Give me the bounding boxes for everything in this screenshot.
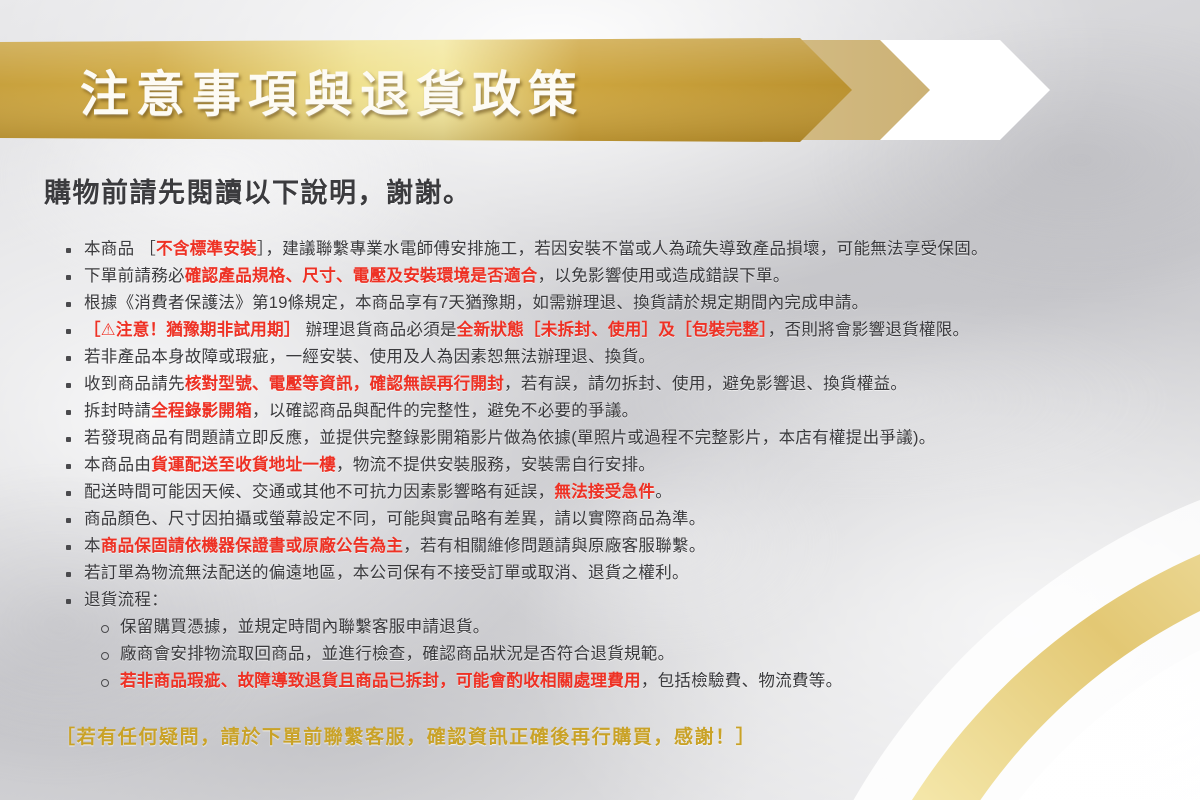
emphasis-text: ［⚠注意！猶豫期非試用期］ <box>84 321 301 339</box>
body-text: ，若有相關維修問題請與原廠客服聯繫。 <box>403 537 705 555</box>
list-item: 本商品保固請依機器保證書或原廠公告為主，若有相關維修問題請與原廠客服聯繫。 <box>60 533 1180 560</box>
list-item: 本商品 ［不含標準安裝］，建議聯繫專業水電師傅安排施工，若因安裝不當或人為疏失導… <box>60 236 1180 263</box>
body-text: 配送時間可能因天候、交通或其他不可抗力因素影響略有延誤， <box>84 483 554 501</box>
body-text: 根據《消費者保護法》第19條規定，本商品享有7天猶豫期，如需辦理退、換貨請於規定… <box>84 294 868 312</box>
list-item: 配送時間可能因天候、交通或其他不可抗力因素影響略有延誤，無法接受急件。 <box>60 479 1180 506</box>
list-item-sub: 保留購買憑據，並規定時間內聯繫客服申請退貨。 <box>96 614 1180 641</box>
list-item: ［⚠注意！猶豫期非試用期］ 辦理退貨商品必須是全新狀態［未拆封、使用］及［包裝完… <box>60 317 1180 344</box>
emphasis-text: 商品保固請依機器保證書或原廠公告為主 <box>101 537 403 555</box>
header-banner: 注意事項與退貨政策 <box>0 38 1060 142</box>
emphasis-text: 貨運配送至收貨地址一樓 <box>151 456 336 474</box>
list-item: 本商品由貨運配送至收貨地址一樓，物流不提供安裝服務，安裝需自行安排。 <box>60 452 1180 479</box>
subtitle: 購物前請先閱讀以下說明，謝謝。 <box>44 171 472 210</box>
list-item: 若訂單為物流無法配送的偏遠地區，本公司保有不接受訂單或取消、退貨之權利。 <box>60 560 1180 587</box>
body-text: ］，建議聯繫專業水電師傅安排施工，若因安裝不當或人為疏失導致產品損壞，可能無法享… <box>257 240 988 258</box>
body-text: 若訂單為物流無法配送的偏遠地區，本公司保有不接受訂單或取消、退貨之權利。 <box>84 564 689 582</box>
body-text: 商品顏色、尺寸因拍攝或螢幕設定不同，可能與實品略有差異，請以實際商品為準。 <box>84 510 706 528</box>
list-item: 根據《消費者保護法》第19條規定，本商品享有7天猶豫期，如需辦理退、換貨請於規定… <box>60 290 1180 317</box>
policy-list: 本商品 ［不含標準安裝］，建議聯繫專業水電師傅安排施工，若因安裝不當或人為疏失導… <box>60 236 1180 695</box>
list-item-sub: 若非商品瑕疵、故障導致退貨且商品已拆封，可能會酌收相關處理費用，包括檢驗費、物流… <box>96 668 1180 695</box>
list-item: 拆封時請全程錄影開箱，以確認商品與配件的完整性，避免不必要的爭議。 <box>60 398 1180 425</box>
emphasis-text: 全新狀態［未拆封、使用］及［包裝完整］ <box>457 321 768 339</box>
body-text: ，包括檢驗費、物流費等。 <box>641 672 843 690</box>
body-text: 收到商品請先 <box>84 375 185 393</box>
notice-and-return-policy-page: 注意事項與退貨政策 購物前請先閱讀以下說明，謝謝。 本商品 ［不含標準安裝］，建… <box>0 0 1200 800</box>
body-text: 若非產品本身故障或瑕疵，一經安裝、使用及人為因素恕無法辦理退、換貨。 <box>84 348 655 366</box>
list-item-sub: 廠商會安排物流取回商品，並進行檢查，確認商品狀況是否符合退貨規範。 <box>96 641 1180 668</box>
body-text: ，以免影響使用或造成錯誤下單。 <box>538 267 790 285</box>
body-text: ，物流不提供安裝服務，安裝需自行安排。 <box>336 456 655 474</box>
body-text: ，若有誤，請勿拆封、使用，避免影響退、換貨權益。 <box>504 375 907 393</box>
body-text: 本商品 ［ <box>84 240 156 258</box>
body-text: 本商品由 <box>84 456 151 474</box>
body-text: 本 <box>84 537 101 555</box>
body-text: 辦理退貨商品必須是 <box>301 321 457 339</box>
emphasis-text: 不含標準安裝 <box>156 240 257 258</box>
body-text: 廠商會安排物流取回商品，並進行檢查，確認商品狀況是否符合退貨規範。 <box>120 645 674 663</box>
emphasis-text: 全程錄影開箱 <box>151 402 252 420</box>
emphasis-text: 核對型號、電壓等資訊，確認無誤再行開封 <box>185 375 504 393</box>
list-item: 若發現商品有問題請立即反應，並提供完整錄影開箱影片做為依據(單照片或過程不完整影… <box>60 425 1180 452</box>
body-text: 。 <box>655 483 672 501</box>
list-item: 下單前請務必確認產品規格、尺寸、電壓及安裝環境是否適合，以免影響使用或造成錯誤下… <box>60 263 1180 290</box>
page-title: 注意事項與退貨政策 <box>80 38 584 142</box>
emphasis-text: 確認產品規格、尺寸、電壓及安裝環境是否適合 <box>185 267 538 285</box>
list-item: 若非產品本身故障或瑕疵，一經安裝、使用及人為因素恕無法辦理退、換貨。 <box>60 344 1180 371</box>
list-item: 商品顏色、尺寸因拍攝或螢幕設定不同，可能與實品略有差異，請以實際商品為準。 <box>60 506 1180 533</box>
list-item: 收到商品請先核對型號、電壓等資訊，確認無誤再行開封，若有誤，請勿拆封、使用，避免… <box>60 371 1180 398</box>
emphasis-text: 若非商品瑕疵、故障導致退貨且商品已拆封，可能會酌收相關處理費用 <box>120 672 641 690</box>
emphasis-text: 無法接受急件 <box>554 483 655 501</box>
list-item: 退貨流程： <box>60 587 1180 614</box>
body-text: 下單前請務必 <box>84 267 185 285</box>
body-text: 若發現商品有問題請立即反應，並提供完整錄影開箱影片做為依據(單照片或過程不完整影… <box>84 429 936 447</box>
footer-note: ［若有任何疑問，請於下單前聯繫客服，確認資訊正確後再行購買，感謝！］ <box>56 722 756 749</box>
body-text: ，否則將會影響退貨權限。 <box>768 321 970 339</box>
body-text: 退貨流程： <box>84 591 168 609</box>
body-text: ，以確認商品與配件的完整性，避免不必要的爭議。 <box>252 402 638 420</box>
body-text: 保留購買憑據，並規定時間內聯繫客服申請退貨。 <box>120 618 490 636</box>
body-text: 拆封時請 <box>84 402 151 420</box>
